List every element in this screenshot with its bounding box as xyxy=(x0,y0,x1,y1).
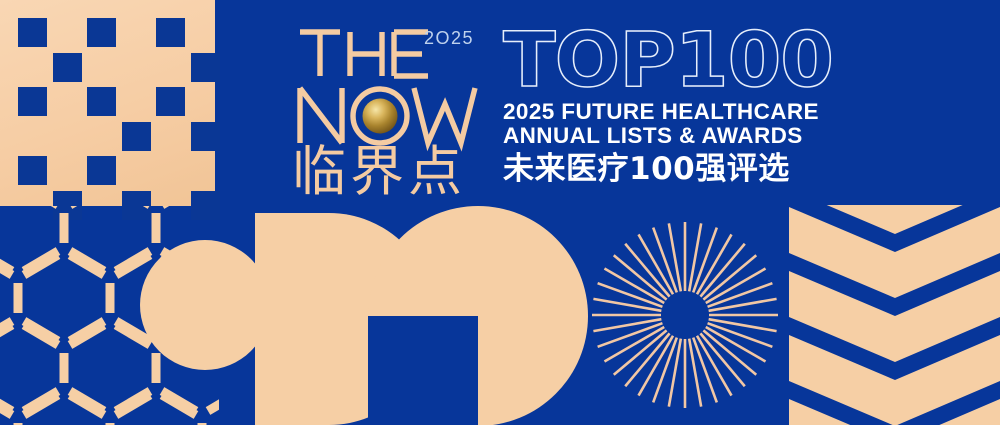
banner-root: 临界点 2O25 TOP100 2025 FUTURE HEALTHCARE A… xyxy=(0,0,1000,425)
sunburst-ray xyxy=(689,339,701,407)
sunburst-ray xyxy=(689,223,701,291)
checker-cell xyxy=(87,87,116,116)
top100-headline: TOP100 xyxy=(503,20,843,98)
checker-cell xyxy=(18,156,47,185)
en-headline-line1: 2025 FUTURE HEALTHCARE xyxy=(503,100,843,124)
small-half-circle xyxy=(140,240,270,370)
sunburst-ray xyxy=(709,299,777,311)
checker-cell xyxy=(18,87,47,116)
cn-headline: 未来医疗100强评选 xyxy=(503,151,843,187)
checker-cell xyxy=(191,122,220,151)
sunburst-ray xyxy=(593,299,661,311)
sunburst-pattern xyxy=(592,222,778,408)
checker-cell xyxy=(87,156,116,185)
checker-cell xyxy=(53,53,82,82)
checker-cell xyxy=(18,18,47,47)
sunburst-ray xyxy=(709,319,777,331)
top100-text: TOP100 xyxy=(503,15,833,104)
checker-cell xyxy=(87,18,116,47)
checker-cell xyxy=(122,122,151,151)
sunburst-ray xyxy=(593,319,661,331)
checker-cell xyxy=(191,53,220,82)
checker-cell xyxy=(156,87,185,116)
checker-cell xyxy=(156,18,185,47)
d-shape-flat-edge xyxy=(255,213,295,425)
logo-chinese-text: 临界点 xyxy=(292,140,466,203)
checkerboard-pattern xyxy=(0,0,215,206)
sunburst-ray xyxy=(669,339,681,407)
big-circle-notch xyxy=(368,316,478,425)
chevron-stripes-pattern xyxy=(789,205,1000,425)
year-badge: 2O25 xyxy=(424,28,474,49)
en-headline-line2: ANNUAL LISTS & AWARDS xyxy=(503,124,843,148)
sunburst-ray xyxy=(669,223,681,291)
golden-orb xyxy=(363,99,398,134)
title-block: TOP100 2025 FUTURE HEALTHCARE ANNUAL LIS… xyxy=(503,20,843,187)
